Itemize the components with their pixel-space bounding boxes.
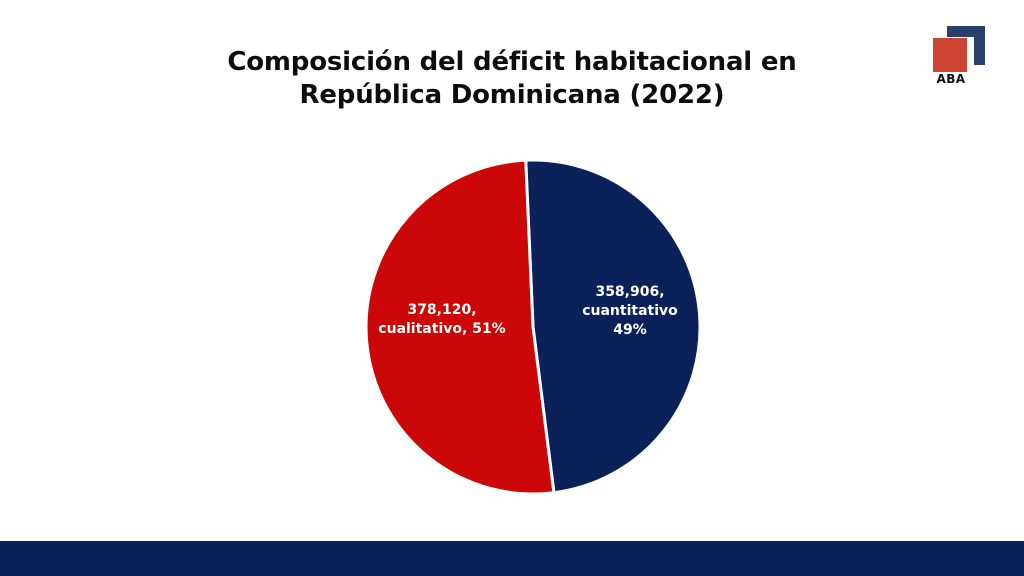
- slide-canvas: Composición del déficit habitacional en …: [0, 0, 1024, 576]
- aba-logo-text: ABA: [933, 72, 969, 86]
- pie-slice-cualitativo: [366, 160, 554, 494]
- pie-slice-cuantitativo: [526, 160, 700, 493]
- logo-square-icon: [933, 38, 967, 72]
- aba-logo: ABA: [929, 24, 993, 90]
- aba-logo-mark: [929, 24, 989, 72]
- page-title-line-2: República Dominicana (2022): [0, 79, 1024, 112]
- pie-slice-group: [366, 160, 700, 494]
- footer-bar: [0, 541, 1024, 576]
- pie-chart: [360, 154, 706, 500]
- page-title-line-1: Composición del déficit habitacional en: [0, 46, 1024, 79]
- logo-bracket-vertical-icon: [974, 26, 985, 65]
- page-title: Composición del déficit habitacional en …: [0, 46, 1024, 112]
- pie-chart-svg: [360, 154, 706, 500]
